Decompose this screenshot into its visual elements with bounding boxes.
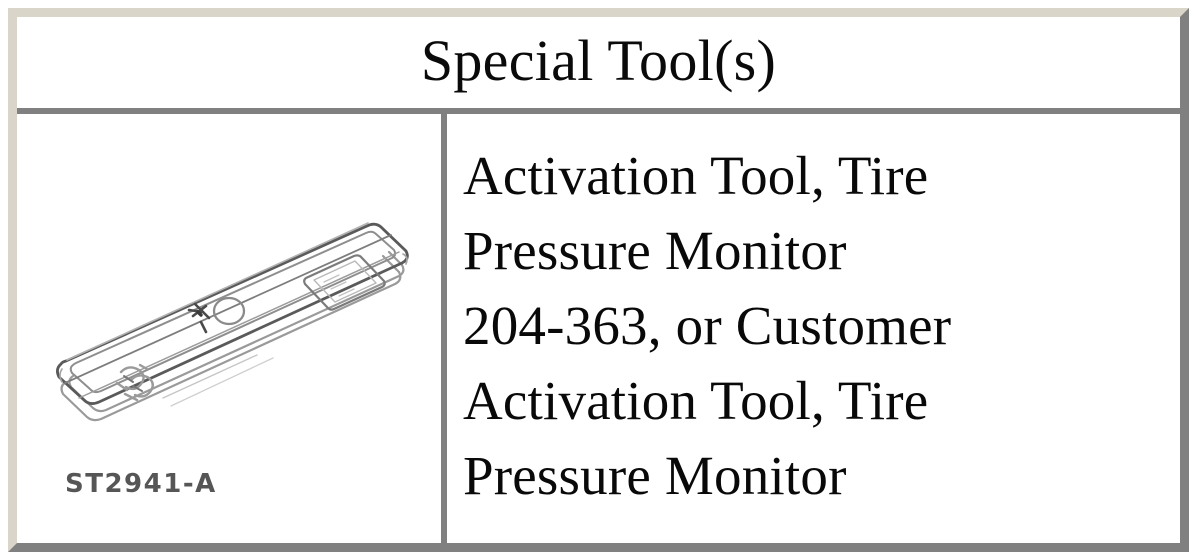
tpms-activation-tool-illustration — [43, 136, 435, 456]
tool-image-cell: ST2941-A — [17, 114, 447, 543]
table-header-row: Special Tool(s) — [17, 17, 1180, 114]
special-tools-table: Special Tool(s) — [8, 8, 1189, 552]
tool-description-text: Activation Tool, Tire Pressure Monitor 2… — [463, 138, 1160, 513]
page-title: Special Tool(s) — [421, 32, 776, 90]
tool-part-number-label: ST2941-A — [65, 469, 217, 499]
tool-description-cell: Activation Tool, Tire Pressure Monitor 2… — [447, 114, 1180, 543]
table-body-row: ST2941-A Activation Tool, Tire Pressure … — [17, 114, 1180, 543]
